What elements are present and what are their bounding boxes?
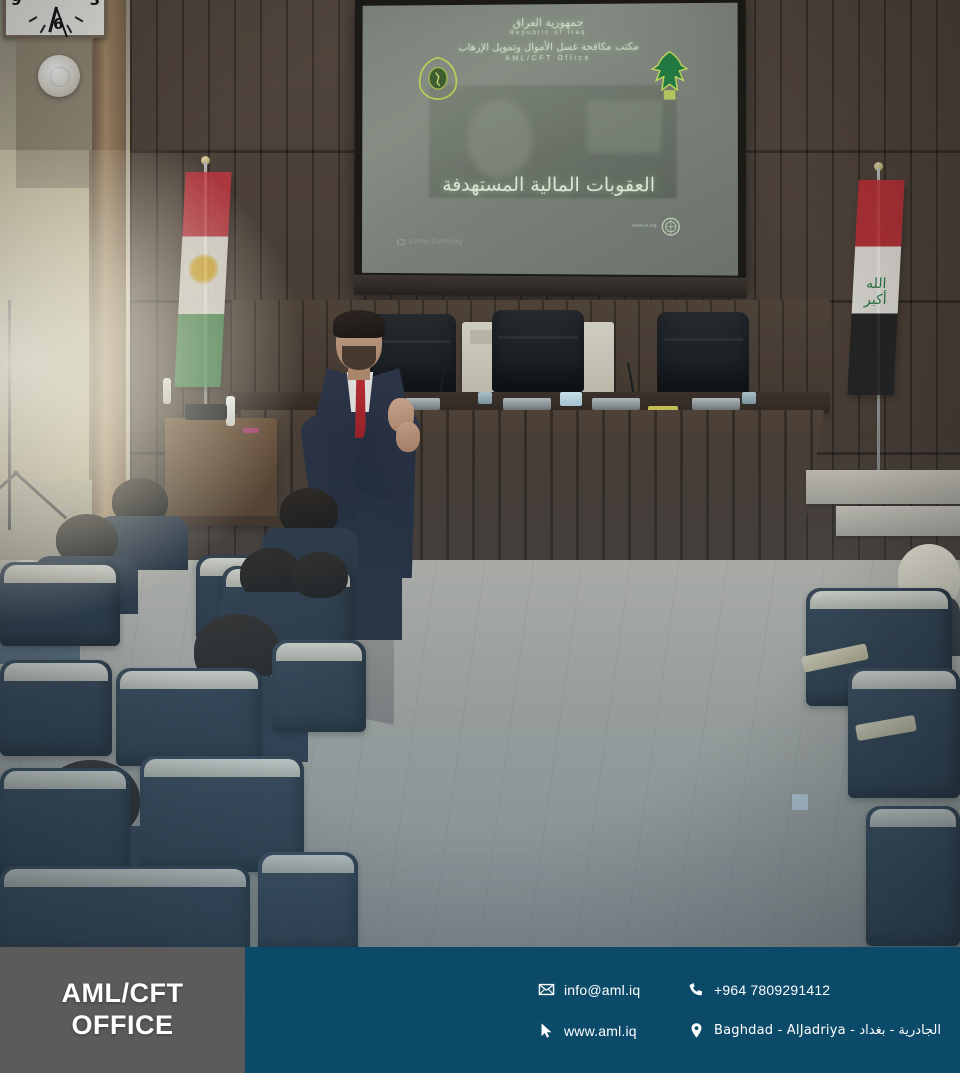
audience-seat [272,640,366,732]
cursor-arrow-icon [538,1022,555,1039]
stage-step [806,470,960,504]
audience-seat [258,852,358,947]
water-glass [478,392,492,404]
presenter-hair [333,310,385,338]
audience-seat [0,768,130,880]
water-bottle [163,378,171,404]
contact-details: info@aml.iq +964 7809291412 www.aml.iq B… [520,947,960,1073]
location-pin-icon [688,1022,705,1039]
slide-header: جمهورية العراق Republic of Iraq مكتب مكا… [363,15,738,63]
wall-clock: 6 3 9 [3,0,107,38]
slide-country-en: Republic of Iraq [363,29,738,37]
un-logo-icon [661,217,681,237]
contact-address[interactable]: Baghdad - AlJadriya - الجادرية - بغداد [688,1010,960,1051]
bottle-on-floor [792,794,808,810]
slide-title-ar: العقوبات المالية المستهدفة [362,174,738,197]
pink-marker [243,428,259,433]
lamp-status-label: Lamp Dimming [409,238,463,245]
organization-branding: AML/CFT OFFICE [0,947,245,1073]
conference-photo: 6 3 9 [0,0,960,947]
brand-line-1: AML/CFT [62,978,184,1010]
screenshot-root: 6 3 9 [0,0,960,1073]
presenter-red-tie [355,376,366,438]
contact-phone-text: +964 7809291412 [714,982,830,998]
left-door [0,150,92,480]
projector-lamp-status: Lamp Dimming [397,238,462,245]
desk-nameplate [592,398,640,410]
podium [165,418,277,526]
audience-seat [866,806,960,946]
contact-footer-banner: AML/CFT OFFICE info@aml.iq +964 78092914… [0,947,960,1073]
audience-seat [0,660,112,756]
slide-country-ar: جمهورية العراق [363,15,738,31]
stage-step [836,506,960,536]
ceiling-speaker [38,55,80,97]
laptop-on-podium [185,404,227,420]
screen-housing [354,275,746,298]
lamp-icon [397,239,405,245]
slide-office-ar: مكتب مكافحة غسل الأموال وتمويل الإرهاب [363,41,738,54]
brand-line-2: OFFICE [72,1010,174,1042]
water-glass [742,392,756,404]
slide-un-url: www.un.org [632,222,656,227]
projection-screen-frame: جمهورية العراق Republic of Iraq مكتب مكا… [354,0,746,298]
desk-nameplate [503,398,551,410]
contact-address-text: Baghdad - AlJadriya - الجادرية - بغداد [714,1023,941,1038]
contact-website[interactable]: www.aml.iq [538,1010,688,1051]
contact-website-text: www.aml.iq [564,1023,637,1039]
presenter-beard [342,346,376,370]
projection-screen: جمهورية العراق Republic of Iraq مكتب مكا… [362,3,738,276]
audience-seat [116,668,262,766]
contact-phone[interactable]: +964 7809291412 [688,969,960,1010]
tissue-box [560,392,582,406]
kurdistan-sun-icon [188,254,220,284]
presenter-hand [396,422,420,452]
contact-email[interactable]: info@aml.iq [538,969,688,1010]
panel-chair [492,310,584,392]
envelope-icon [538,981,555,998]
audience-head [292,552,348,598]
contact-email-text: info@aml.iq [564,982,640,998]
desk-nameplate [692,398,740,410]
audience-seat [0,562,120,646]
panel-chair [657,312,749,394]
spray-bottle [226,396,235,426]
audience-seat [0,866,250,947]
tripod-stand-pole [8,300,11,530]
takbir-script: الله أكبر [856,276,895,304]
phone-icon [688,981,705,998]
